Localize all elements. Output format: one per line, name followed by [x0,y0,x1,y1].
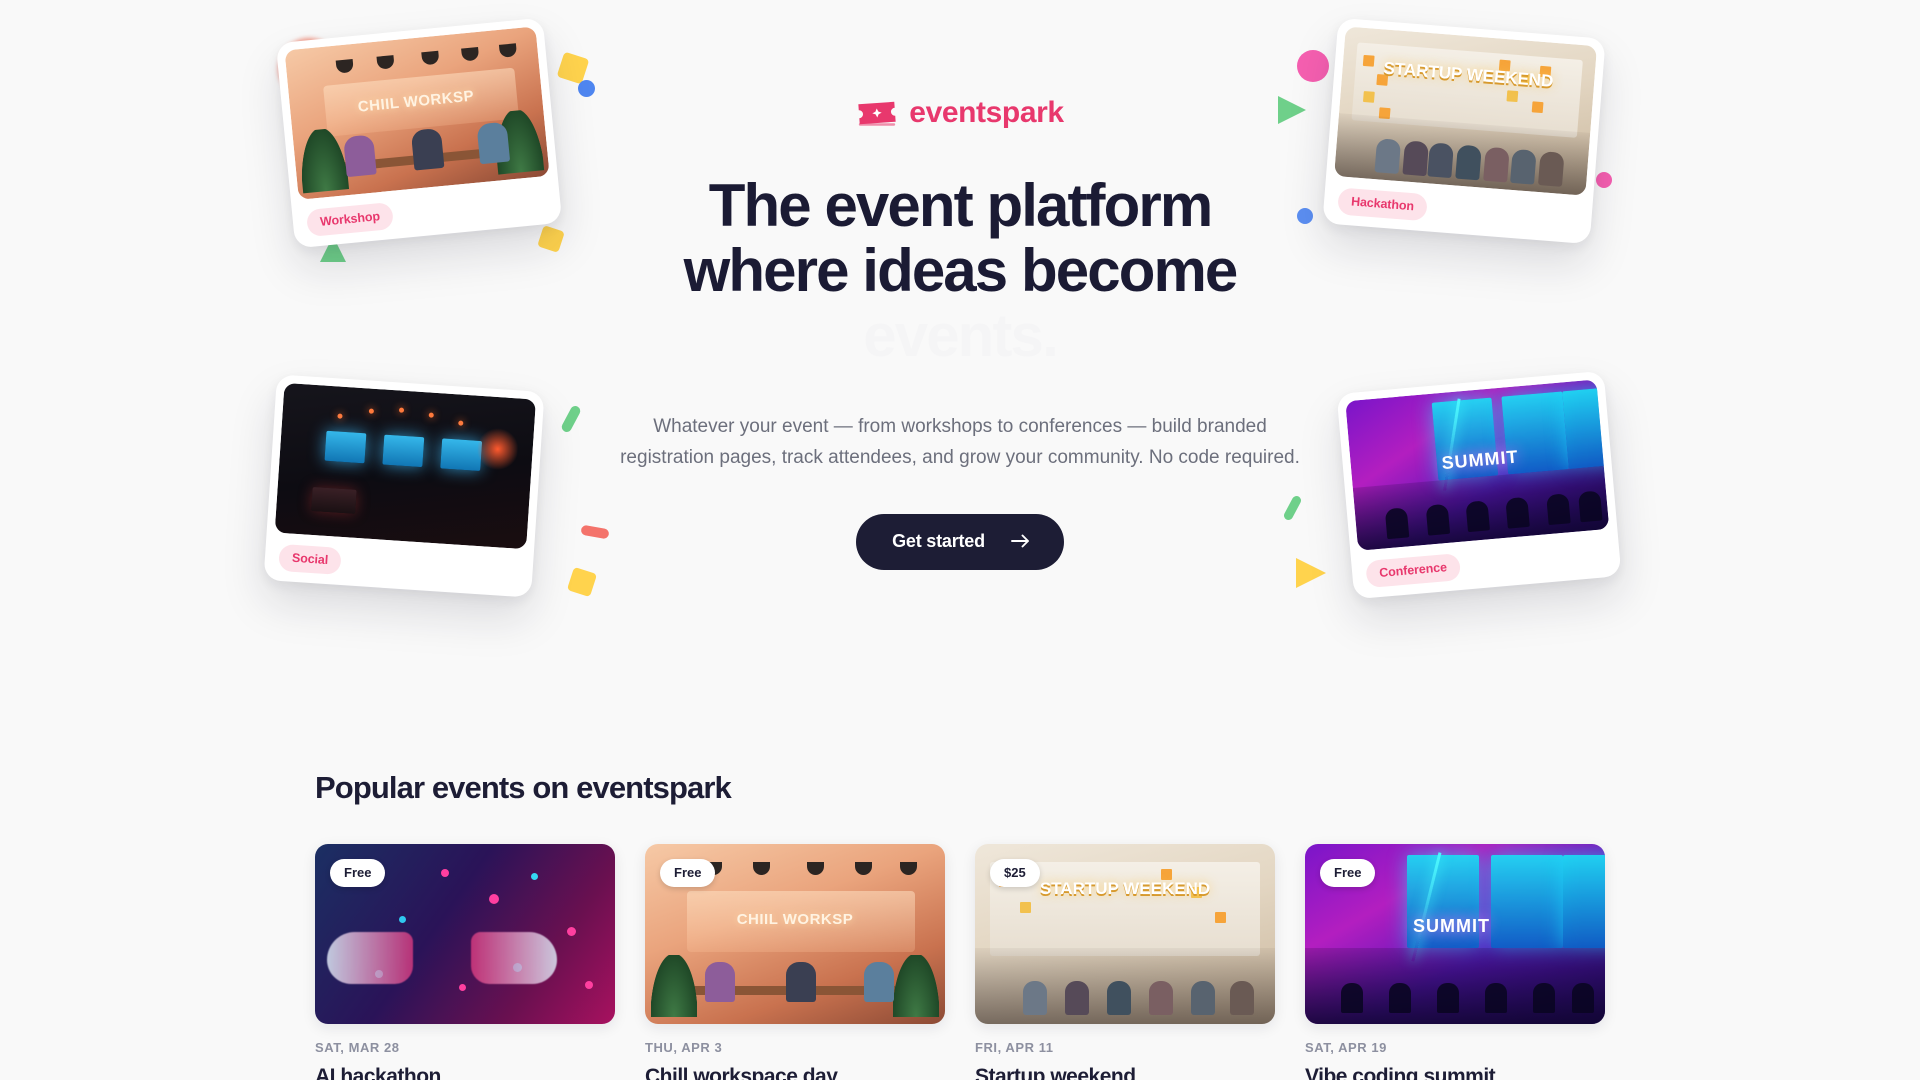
floating-card-thumb: CHIIL WORKSP [284,26,549,199]
yellow-square [567,567,597,597]
landing-page: CHIIL WORKSP Workshop [0,0,1920,1080]
floating-card-social[interactable]: Social [263,374,544,597]
section-title: Popular events on eventspark [315,770,1605,806]
event-price-badge: $25 [990,859,1040,887]
blue-dot [578,80,595,97]
workshop-photo: CHIIL WORKSP [284,26,549,199]
arrow-right-icon [1011,534,1030,548]
event-thumbnail[interactable]: $25 STARTUP WEEKEND [975,844,1275,1024]
hackathon-photo: STARTUP WEEKEND [1334,26,1597,195]
event-date: FRI, APR 11 [975,1040,1275,1055]
event-thumbnail[interactable]: Free [315,844,615,1024]
event-card[interactable]: $25 STARTUP WEEKEND [975,844,1275,1080]
yellow-corner [537,225,565,253]
pink-circle [1297,50,1329,82]
page-title: The event platform where ideas become ev… [620,174,1300,368]
get-started-button[interactable]: Get started [856,514,1064,570]
hero-section: CHIIL WORKSP Workshop [0,0,1920,745]
brand-logo[interactable]: eventspark [620,96,1300,130]
floating-card-thumb: SUMMIT [1345,379,1609,550]
floating-card-thumb: STARTUP WEEKEND [1334,26,1597,195]
event-card[interactable]: Free CHIIL WORKSP THU, APR 3Chill worksp… [645,844,945,1080]
event-card[interactable]: Free SUMMIT SAT, APR 19Vibe coding summi… [1305,844,1605,1080]
event-date: SAT, APR 19 [1305,1040,1605,1055]
event-thumbnail[interactable]: Free SUMMIT [1305,844,1605,1024]
event-card[interactable]: Free SAT, MAR 28AI hackathon [315,844,615,1080]
category-badge: Hackathon [1337,187,1428,221]
headline-line-3: events. [620,304,1300,369]
ticket-icon [856,98,898,128]
floating-card-conference[interactable]: SUMMIT Conference [1337,371,1622,600]
category-badge: Conference [1365,553,1461,588]
event-grid: Free SAT, MAR 28AI hackathonFree [315,844,1605,1080]
category-badge: Workshop [306,201,394,236]
popular-events-section: Popular events on eventspark Free SAT, M… [0,770,1920,1080]
floating-card-workshop[interactable]: CHIIL WORKSP Workshop [276,18,563,249]
floating-card-thumb [275,383,536,549]
category-badge: Social [278,543,342,574]
headline-line-2: where ideas become [620,239,1300,304]
event-thumbnail[interactable]: Free CHIIL WORKSP [645,844,945,1024]
event-title: Chill workspace day [645,1064,945,1080]
headline-line-1: The event platform [620,174,1300,239]
hero-subcopy: Whatever your event — from workshops to … [620,412,1300,474]
event-date: SAT, MAR 28 [315,1040,615,1055]
event-price-badge: Free [1320,859,1375,887]
pink-dot [1596,172,1612,188]
yellow-triangle [1296,558,1326,588]
green-bar [560,404,582,433]
brand-name: eventspark [909,96,1063,130]
event-title: Vibe coding summit [1305,1064,1605,1080]
cta-container: Get started [620,514,1300,570]
event-title: Startup weekend [975,1064,1275,1080]
conference-photo: SUMMIT [1345,379,1609,550]
get-started-label: Get started [892,531,985,552]
event-date: THU, APR 3 [645,1040,945,1055]
event-price-badge: Free [660,859,715,887]
event-title: AI hackathon [315,1064,615,1080]
hero-content: eventspark The event platform where idea… [620,96,1300,570]
social-photo [275,383,536,549]
event-price-badge: Free [330,859,385,887]
coral-bar [580,525,609,540]
floating-card-hackathon[interactable]: STARTUP WEEKEND Hackathon [1322,18,1605,244]
